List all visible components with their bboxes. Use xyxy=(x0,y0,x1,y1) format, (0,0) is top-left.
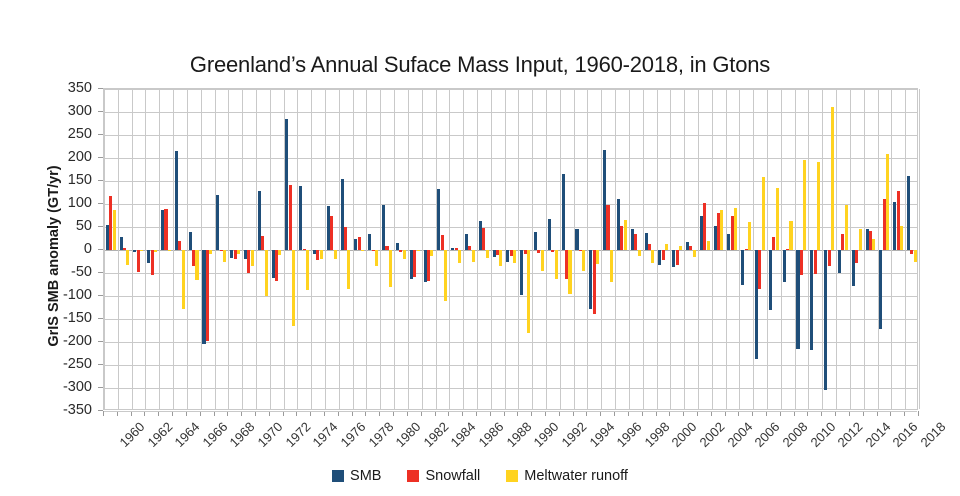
bar-smb xyxy=(783,250,786,282)
bar-group xyxy=(534,89,544,409)
bar-meltwater-runoff xyxy=(610,250,613,282)
bar-group xyxy=(727,89,737,409)
bar-group xyxy=(133,89,143,409)
y-axis-tick-label: -100 xyxy=(48,287,92,303)
bar-smb xyxy=(824,250,827,390)
bar-snowfall xyxy=(275,250,278,281)
bar-meltwater-runoff xyxy=(624,220,627,250)
bar-meltwater-runoff xyxy=(237,250,240,254)
bar-group xyxy=(866,89,876,409)
bar-smb xyxy=(907,176,910,250)
bar-smb xyxy=(562,174,565,250)
bar-group xyxy=(258,89,268,409)
bar-group xyxy=(755,89,765,409)
bar-group xyxy=(465,89,475,409)
legend-swatch-smb xyxy=(332,470,344,482)
bar-smb xyxy=(189,232,192,250)
legend-item-smb[interactable]: SMB xyxy=(332,468,381,484)
bar-meltwater-runoff xyxy=(845,205,848,250)
bar-meltwater-runoff xyxy=(803,160,806,250)
bar-snowfall xyxy=(606,205,609,250)
bar-snowfall xyxy=(662,250,665,260)
bar-meltwater-runoff xyxy=(182,250,185,309)
bar-meltwater-runoff xyxy=(389,250,392,287)
legend-item-snowfall[interactable]: Snowfall xyxy=(407,468,480,484)
bar-group xyxy=(313,89,323,409)
x-axis-tick-label: 2000 xyxy=(669,419,700,450)
bar-smb xyxy=(368,234,371,250)
bar-snowfall xyxy=(206,250,209,341)
bar-meltwater-runoff xyxy=(817,162,820,250)
bar-smb xyxy=(299,186,302,250)
y-axis-tick-label: 250 xyxy=(48,126,92,142)
legend-label: SMB xyxy=(350,468,381,484)
bar-group xyxy=(147,89,157,409)
bar-snowfall xyxy=(137,250,140,272)
x-axis-tick-label: 1994 xyxy=(586,419,617,450)
y-axis-tick-label: -250 xyxy=(48,356,92,372)
bar-group xyxy=(852,89,862,409)
bar-meltwater-runoff xyxy=(417,250,420,251)
bar-meltwater-runoff xyxy=(859,229,862,250)
bar-meltwater-runoff xyxy=(472,250,475,262)
bar-meltwater-runoff xyxy=(444,250,447,301)
bar-meltwater-runoff xyxy=(900,226,903,250)
bar-group xyxy=(631,89,641,409)
bar-group xyxy=(354,89,364,409)
bar-meltwater-runoff xyxy=(334,250,337,259)
bar-group xyxy=(272,89,282,409)
legend-swatch-snowfall xyxy=(407,470,419,482)
bar-meltwater-runoff xyxy=(168,250,171,251)
bar-group xyxy=(327,89,337,409)
bar-meltwater-runoff xyxy=(195,250,198,280)
y-axis-tick-label: -50 xyxy=(48,264,92,280)
bar-group xyxy=(506,89,516,409)
x-axis-tick-label: 2012 xyxy=(835,419,866,450)
bar-meltwater-runoff xyxy=(596,250,599,264)
bar-snowfall xyxy=(261,236,264,250)
bar-meltwater-runoff xyxy=(665,244,668,250)
bar-snowfall xyxy=(151,250,154,275)
bar-meltwater-runoff xyxy=(541,250,544,271)
bar-group xyxy=(299,89,309,409)
y-axis-tick-label: 300 xyxy=(48,103,92,119)
bar-meltwater-runoff xyxy=(265,250,268,296)
bar-meltwater-runoff xyxy=(430,250,433,256)
bar-smb xyxy=(575,229,578,250)
x-axis-tick-label: 1998 xyxy=(641,419,672,450)
x-axis-tick-label: 1968 xyxy=(227,419,258,450)
x-axis-tick-label: 1962 xyxy=(144,419,175,450)
bar-meltwater-runoff xyxy=(458,250,461,263)
bar-group xyxy=(824,89,834,409)
bar-meltwater-runoff xyxy=(776,188,779,250)
bar-group xyxy=(548,89,558,409)
bar-group xyxy=(838,89,848,409)
bar-snowfall xyxy=(482,228,485,250)
bar-meltwater-runoff xyxy=(527,250,530,333)
x-axis-tick-label: 1964 xyxy=(172,419,203,450)
bar-meltwater-runoff xyxy=(209,250,212,254)
bar-meltwater-runoff xyxy=(555,250,558,279)
bar-group xyxy=(658,89,668,409)
bar-group xyxy=(244,89,254,409)
bar-meltwater-runoff xyxy=(320,250,323,259)
bar-group xyxy=(603,89,613,409)
bar-snowfall xyxy=(828,250,831,266)
bar-group xyxy=(424,89,434,409)
bar-group xyxy=(451,89,461,409)
bar-group xyxy=(396,89,406,409)
bar-meltwater-runoff xyxy=(347,250,350,289)
x-axis-tick-label: 2006 xyxy=(752,419,783,450)
bar-meltwater-runoff xyxy=(306,250,309,290)
bar-meltwater-runoff xyxy=(872,239,875,251)
bar-meltwater-runoff xyxy=(223,250,226,262)
bar-meltwater-runoff xyxy=(914,250,917,262)
bar-series-layer xyxy=(104,89,917,409)
bar-meltwater-runoff xyxy=(568,250,571,294)
bar-group xyxy=(175,89,185,409)
x-axis-tick-label: 1974 xyxy=(310,419,341,450)
y-axis-tick-label: -350 xyxy=(48,402,92,418)
bar-smb xyxy=(741,250,744,285)
y-axis-tick-label: 50 xyxy=(48,218,92,234)
bar-group xyxy=(617,89,627,409)
x-axis-tick-label: 2010 xyxy=(807,419,838,450)
bar-meltwater-runoff xyxy=(693,250,696,257)
bar-snowfall xyxy=(178,241,181,250)
legend-swatch-meltwater xyxy=(506,470,518,482)
bar-meltwater-runoff xyxy=(886,154,889,250)
bar-meltwater-runoff xyxy=(638,250,641,256)
bar-group xyxy=(575,89,585,409)
bar-meltwater-runoff xyxy=(251,250,254,266)
bar-group xyxy=(714,89,724,409)
bar-group xyxy=(189,89,199,409)
bar-meltwater-runoff xyxy=(582,250,585,271)
chart-legend: SMBSnowfallMeltwater runoff xyxy=(0,468,960,484)
bar-snowfall xyxy=(855,250,858,263)
bar-group xyxy=(879,89,889,409)
bar-meltwater-runoff xyxy=(154,250,157,252)
bar-meltwater-runoff xyxy=(126,250,129,265)
bar-snowfall xyxy=(358,237,361,250)
bar-group xyxy=(410,89,420,409)
bar-group xyxy=(493,89,503,409)
bar-group xyxy=(382,89,392,409)
x-axis-tick-label: 2008 xyxy=(779,419,810,450)
bar-meltwater-runoff xyxy=(707,241,710,250)
x-axis-tick-label: 1992 xyxy=(558,419,589,450)
bar-group xyxy=(562,89,572,409)
bar-group xyxy=(589,89,599,409)
bar-group xyxy=(202,89,212,409)
bar-smb xyxy=(175,151,178,250)
bar-smb xyxy=(769,250,772,310)
chart-figure: Greenland’s Annual Suface Mass Input, 19… xyxy=(0,0,960,496)
x-axis-tick-label: 1976 xyxy=(337,419,368,450)
bar-smb xyxy=(520,250,523,295)
bar-group xyxy=(893,89,903,409)
x-axis-tick-label: 2002 xyxy=(697,419,728,450)
bar-smb xyxy=(879,250,882,329)
y-axis-tick-label: 350 xyxy=(48,80,92,96)
bar-group xyxy=(672,89,682,409)
bar-meltwater-runoff xyxy=(375,250,378,266)
bar-meltwater-runoff xyxy=(734,208,737,250)
bar-smb xyxy=(382,205,385,250)
legend-label: Meltwater runoff xyxy=(524,468,628,484)
bar-group xyxy=(796,89,806,409)
x-axis-tick-label: 1990 xyxy=(531,419,562,450)
bar-smb xyxy=(216,195,219,250)
bar-meltwater-runoff xyxy=(513,250,516,263)
bar-meltwater-runoff xyxy=(361,250,364,251)
bar-group xyxy=(341,89,351,409)
bar-meltwater-runoff xyxy=(278,250,281,255)
bar-group xyxy=(700,89,710,409)
bar-group xyxy=(230,89,240,409)
bar-meltwater-runoff xyxy=(499,250,502,266)
gridline-horizontal xyxy=(104,411,917,412)
bar-group xyxy=(783,89,793,409)
x-axis-tick-label: 2004 xyxy=(724,419,755,450)
x-axis-tick-label: 1970 xyxy=(255,419,286,450)
bar-snowfall xyxy=(164,209,167,250)
bar-snowfall xyxy=(344,227,347,250)
bar-meltwater-runoff xyxy=(831,107,834,250)
x-axis-tick-label: 1984 xyxy=(448,419,479,450)
y-axis-tick-label: 0 xyxy=(48,241,92,257)
bar-group xyxy=(645,89,655,409)
bar-snowfall xyxy=(289,185,292,250)
chart-title: Greenland’s Annual Suface Mass Input, 19… xyxy=(0,52,960,78)
legend-item-meltwater-runoff[interactable]: Meltwater runoff xyxy=(506,468,628,484)
x-axis-tick-label: 2014 xyxy=(862,419,893,450)
bar-meltwater-runoff xyxy=(486,250,489,258)
gridline-vertical xyxy=(919,89,920,409)
bar-group xyxy=(810,89,820,409)
bar-meltwater-runoff xyxy=(720,210,723,250)
bar-snowfall xyxy=(441,235,444,250)
x-axis-tick-label: 1996 xyxy=(614,419,645,450)
x-axis-tick-label: 1986 xyxy=(476,419,507,450)
bar-meltwater-runoff xyxy=(748,222,751,250)
plot-area xyxy=(103,88,918,410)
bar-smb xyxy=(548,219,551,250)
x-axis-tick-label: 1978 xyxy=(365,419,396,450)
bar-group xyxy=(686,89,696,409)
bar-snowfall xyxy=(814,250,817,274)
bar-snowfall xyxy=(413,250,416,277)
bar-snowfall xyxy=(758,250,761,289)
bar-group xyxy=(769,89,779,409)
y-axis-tick-label: -150 xyxy=(48,310,92,326)
bar-meltwater-runoff xyxy=(292,250,295,326)
y-axis-tick-label: 100 xyxy=(48,195,92,211)
legend-label: Snowfall xyxy=(425,468,480,484)
y-axis-tick-label: -200 xyxy=(48,333,92,349)
x-axis-tick-mark xyxy=(918,411,919,416)
bar-group xyxy=(479,89,489,409)
bar-group xyxy=(161,89,171,409)
bar-meltwater-runoff xyxy=(762,177,765,250)
bar-group xyxy=(520,89,530,409)
bar-meltwater-runoff xyxy=(403,250,406,259)
y-axis-tick-label: 150 xyxy=(48,172,92,188)
bar-group xyxy=(437,89,447,409)
x-axis-tick-label: 2016 xyxy=(890,419,921,450)
bar-smb xyxy=(838,250,841,273)
x-axis-tick-label: 1960 xyxy=(116,419,147,450)
bar-group xyxy=(907,89,917,409)
x-axis-tick-label: 1980 xyxy=(393,419,424,450)
bar-meltwater-runoff xyxy=(679,246,682,250)
x-axis-tick-label: 1982 xyxy=(420,419,451,450)
bar-group xyxy=(120,89,130,409)
bar-snowfall xyxy=(330,216,333,250)
bar-group xyxy=(285,89,295,409)
bar-meltwater-runoff xyxy=(140,250,143,251)
y-axis-tick-label: -300 xyxy=(48,379,92,395)
bar-smb xyxy=(534,232,537,250)
bar-group xyxy=(368,89,378,409)
bar-meltwater-runoff xyxy=(651,250,654,263)
bar-group xyxy=(106,89,116,409)
bar-smb xyxy=(396,243,399,250)
x-axis-tick-label: 1966 xyxy=(199,419,230,450)
bar-group xyxy=(741,89,751,409)
bar-snowfall xyxy=(676,250,679,265)
x-axis-tick-label: 2018 xyxy=(918,419,949,450)
bar-group xyxy=(216,89,226,409)
bar-snowfall xyxy=(800,250,803,275)
bar-meltwater-runoff xyxy=(789,221,792,250)
x-axis-tick-label: 1988 xyxy=(503,419,534,450)
x-axis-tick-label: 1972 xyxy=(282,419,313,450)
bar-snowfall xyxy=(634,234,637,250)
bar-meltwater-runoff xyxy=(113,210,116,250)
y-axis-tick-label: 200 xyxy=(48,149,92,165)
